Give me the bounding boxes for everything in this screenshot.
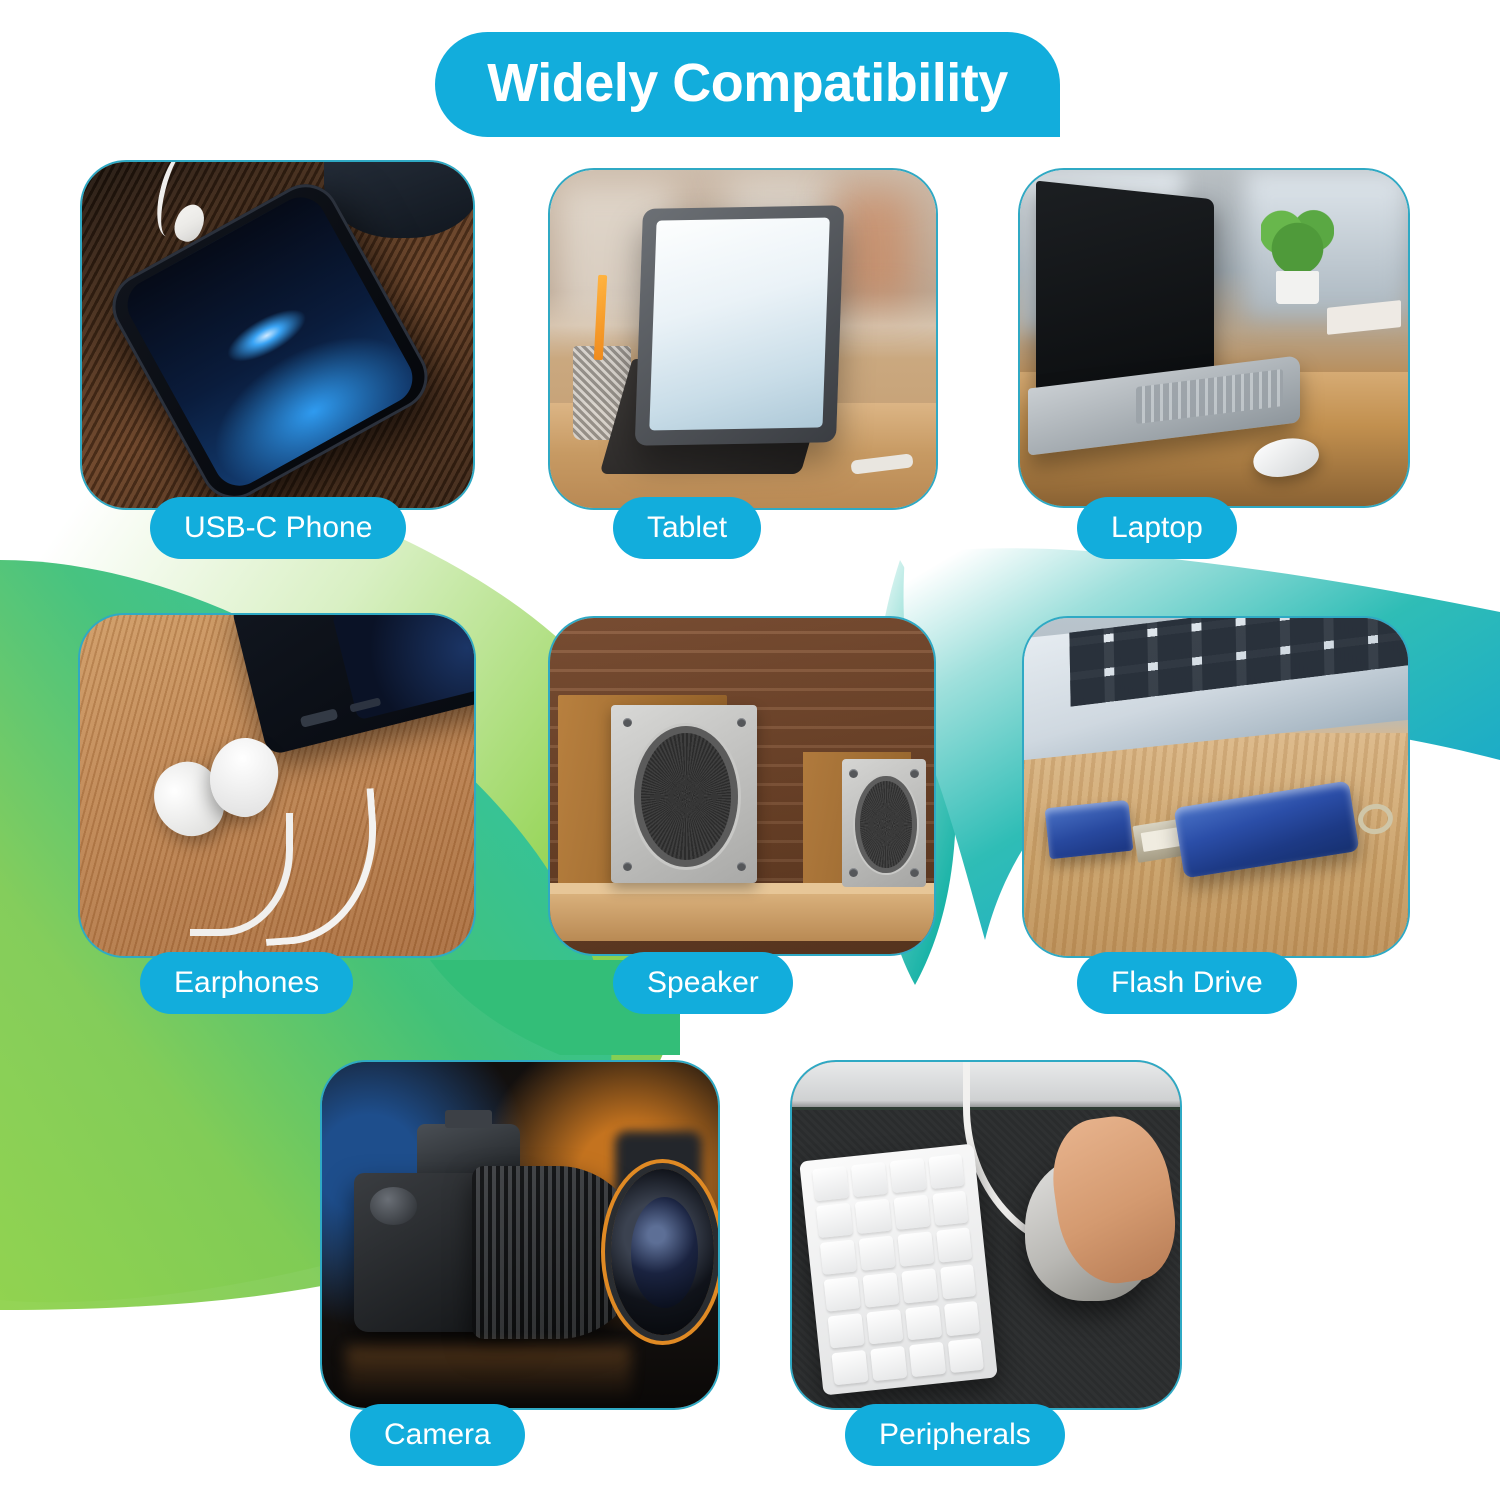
card-label-camera: Camera (384, 1420, 491, 1450)
table-reflection (346, 1346, 631, 1401)
photo-laptop (1020, 170, 1408, 506)
numpad-keys (813, 1154, 985, 1385)
numpad-key (909, 1342, 946, 1377)
photo-speaker (550, 618, 934, 954)
page-title-banner: Widely Compatibility (435, 32, 1060, 137)
screw-icon (910, 769, 919, 778)
screw-icon (623, 718, 632, 727)
numpad-key (944, 1301, 981, 1336)
numpad-key (928, 1154, 965, 1189)
card-peripherals[interactable] (790, 1060, 1182, 1410)
phone-corner-shape (231, 615, 474, 756)
label-pill-earphones[interactable]: Earphones (140, 952, 353, 1014)
label-pill-peripherals[interactable]: Peripherals (845, 1404, 1065, 1466)
plant-pot-shape (1276, 271, 1319, 305)
numpad-key (813, 1166, 850, 1201)
screw-icon (737, 862, 746, 871)
card-label-usb-c-phone: USB-C Phone (184, 513, 372, 543)
label-pill-tablet[interactable]: Tablet (613, 497, 761, 559)
card-speaker[interactable] (548, 616, 936, 956)
card-camera[interactable] (320, 1060, 720, 1410)
screw-icon (849, 868, 858, 877)
label-pill-flash-drive[interactable]: Flash Drive (1077, 952, 1297, 1014)
camera-lens-glass (631, 1197, 698, 1308)
screw-icon (849, 769, 858, 778)
numpad-key (820, 1240, 857, 1275)
usb-cap-shape (1045, 800, 1134, 859)
camera-hotshoe-shape (445, 1110, 493, 1127)
numpad-key (940, 1264, 977, 1299)
card-label-earphones: Earphones (174, 968, 319, 998)
numpad-key (901, 1268, 938, 1303)
notebook-shape (1327, 301, 1401, 336)
screw-icon (737, 718, 746, 727)
speaker-driver-large (634, 726, 738, 867)
photo-peripherals (792, 1062, 1180, 1408)
numpad-key (817, 1203, 854, 1238)
photo-camera (322, 1062, 718, 1408)
numpad-key (890, 1158, 927, 1193)
numpad-key (859, 1236, 896, 1271)
card-usb-c-phone[interactable] (80, 160, 475, 510)
photo-tablet (550, 170, 936, 508)
screw-icon (910, 868, 919, 877)
card-label-laptop: Laptop (1111, 513, 1203, 543)
label-pill-camera[interactable]: Camera (350, 1404, 525, 1466)
numpad-key (932, 1191, 969, 1226)
numpad-key (851, 1162, 888, 1197)
numpad-key (832, 1350, 869, 1385)
numpad-key (936, 1228, 973, 1263)
photo-earphones (80, 615, 474, 956)
card-flash-drive[interactable] (1022, 616, 1410, 958)
usb-c-port-shape (300, 709, 338, 729)
speaker-driver-small (855, 776, 916, 873)
photo-flash-drive (1024, 618, 1408, 956)
numpad-key (948, 1338, 985, 1373)
label-pill-laptop[interactable]: Laptop (1077, 497, 1237, 559)
numpad-key (898, 1232, 935, 1267)
card-earphones[interactable] (78, 613, 476, 958)
page-title: Widely Compatibility (487, 56, 1008, 114)
numpad-key (824, 1276, 861, 1311)
numpad-key (894, 1195, 931, 1230)
card-label-peripherals: Peripherals (879, 1420, 1031, 1450)
card-label-speaker: Speaker (647, 968, 759, 998)
office-blur-c (836, 190, 913, 305)
numpad-key (855, 1199, 892, 1234)
card-label-tablet: Tablet (647, 513, 727, 543)
tablet-body-shape (635, 205, 844, 445)
shelf-shape (550, 894, 934, 941)
numpad-key (905, 1305, 942, 1340)
photo-usb-c-phone (82, 162, 473, 508)
card-label-flash-drive: Flash Drive (1111, 968, 1263, 998)
card-tablet[interactable] (548, 168, 938, 510)
numpad-key (871, 1346, 908, 1381)
tablet-screen-shape (649, 218, 829, 431)
label-pill-speaker[interactable]: Speaker (613, 952, 793, 1014)
numpad-key (863, 1272, 900, 1307)
label-pill-usb-c-phone[interactable]: USB-C Phone (150, 497, 406, 559)
plant-shape (1261, 200, 1335, 281)
screw-icon (623, 862, 632, 871)
numpad-key (828, 1313, 865, 1348)
card-laptop[interactable] (1018, 168, 1410, 508)
numpad-key (867, 1309, 904, 1344)
camera-dial-shape (370, 1187, 418, 1225)
numpad-shape (800, 1143, 998, 1395)
